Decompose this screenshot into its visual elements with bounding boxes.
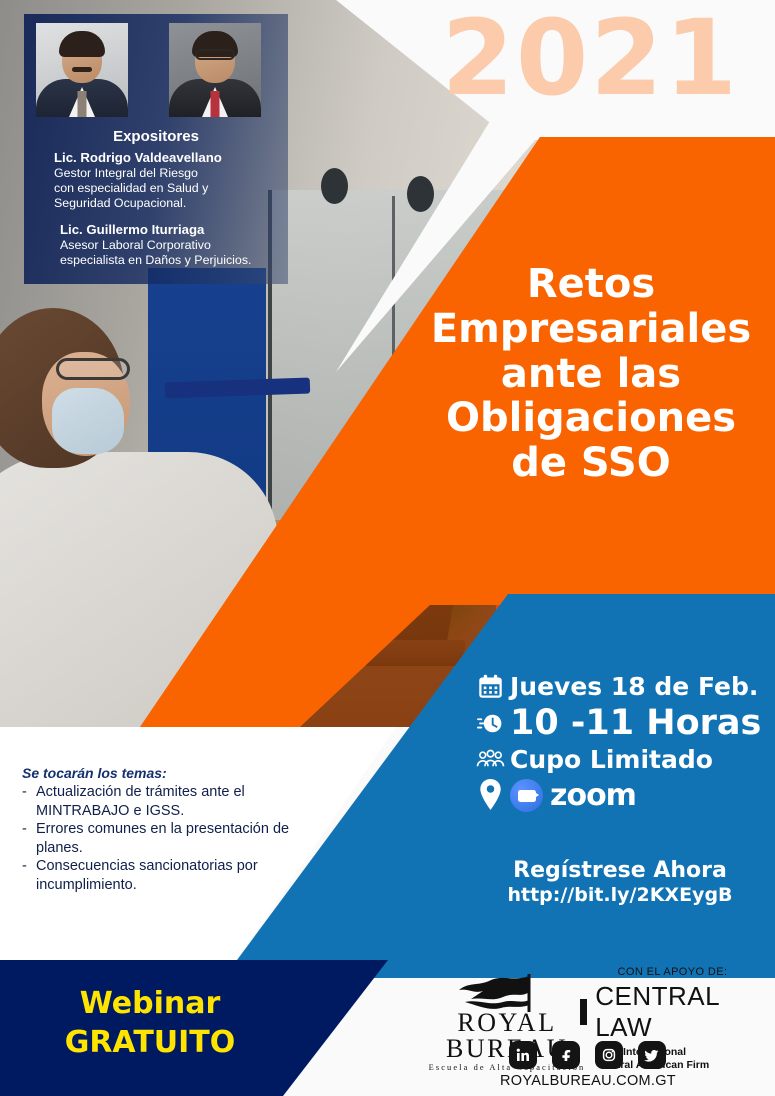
topics-list: Actualización de trámites ante el MINTRA… (22, 783, 322, 894)
webinar-free-badge: Webinar GRATUITO (0, 984, 300, 1062)
topics-block: Se tocarán los temas: Actualización de t… (22, 765, 322, 894)
speaker-1-role-line-3: Seguridad Ocupacional. (54, 196, 290, 211)
page-title: Retos Empresariales ante las Obligacione… (416, 262, 766, 486)
topics-heading: Se tocarán los temas: (22, 765, 322, 781)
speaker-2-role-line-2: especialista en Daños y Perjuicios. (54, 253, 290, 268)
webinar-free-label: GRATUITO (0, 1023, 300, 1062)
event-time: 10 -11 Horas (510, 703, 761, 743)
sponsor-bar-icon (580, 999, 587, 1025)
social-links (470, 1041, 705, 1069)
event-date: Jueves 18 de Feb. (510, 672, 758, 701)
location-pin-icon (470, 779, 510, 810)
title-line-3: ante las (416, 352, 766, 397)
speaker-2-role-line-1: Asesor Laboral Corporativo (54, 238, 290, 253)
registration-url[interactable]: http://bit.ly/2KXEygB (470, 884, 770, 906)
speakers-list: Lic. Rodrigo Valdeavellano Gestor Integr… (54, 150, 290, 268)
list-item: Consecuencias sancionatorias por incumpl… (22, 857, 322, 894)
list-item: Errores comunes en la presentación de pl… (22, 820, 322, 857)
speaker-1-role-line-2: con especialidad en Salud y (54, 181, 290, 196)
title-line-2: Empresariales (416, 307, 766, 352)
calendar-icon (470, 673, 510, 700)
zoom-camera-icon (510, 779, 543, 812)
event-capacity-row: Cupo Limitado (470, 745, 770, 774)
event-date-row: Jueves 18 de Feb. (470, 672, 770, 701)
speaker-2-name: Lic. Guillermo Iturriaga (54, 222, 290, 238)
speaker-1-name: Lic. Rodrigo Valdeavellano (54, 150, 290, 166)
webinar-poster: 2021 Expositores Lic. Rodrigo Valdeavell… (0, 0, 775, 1096)
sponsor-name: CENTRAL LAW (595, 981, 765, 1043)
webinar-label: Webinar (0, 984, 300, 1023)
registration-block: Regístrese Ahora http://bit.ly/2KXEygB (470, 858, 770, 906)
website-url: ROYALBUREAU.COM.GT (438, 1073, 738, 1089)
title-line-1: Retos (416, 262, 766, 307)
zoom-wordmark: zoom (550, 778, 636, 813)
speaker-photo-2 (169, 23, 261, 117)
title-line-5: de SSO (416, 441, 766, 486)
event-platform-row: zoom (470, 776, 770, 813)
zoom-logo: zoom (510, 778, 636, 813)
flag-icon (412, 972, 602, 1014)
event-details: Jueves 18 de Feb. 10 -11 Horas (470, 672, 770, 815)
event-capacity: Cupo Limitado (510, 745, 713, 774)
speaker-1-role-line-1: Gestor Integral del Riesgo (54, 166, 290, 181)
clock-icon (470, 710, 510, 737)
registration-cta: Regístrese Ahora (470, 858, 770, 883)
facebook-icon[interactable] (552, 1041, 580, 1069)
instagram-icon[interactable] (595, 1041, 623, 1069)
speakers-heading: Expositores (24, 128, 288, 145)
sponsor-label: CON EL APOYO DE: (580, 966, 765, 978)
twitter-icon[interactable] (638, 1041, 666, 1069)
speaker-photos (36, 23, 276, 118)
people-group-icon (470, 747, 510, 772)
title-line-4: Obligaciones (416, 396, 766, 441)
list-item: Actualización de trámites ante el MINTRA… (22, 783, 322, 820)
speaker-photo-1 (36, 23, 128, 117)
event-time-row: 10 -11 Horas (470, 703, 770, 743)
linkedin-icon[interactable] (509, 1041, 537, 1069)
